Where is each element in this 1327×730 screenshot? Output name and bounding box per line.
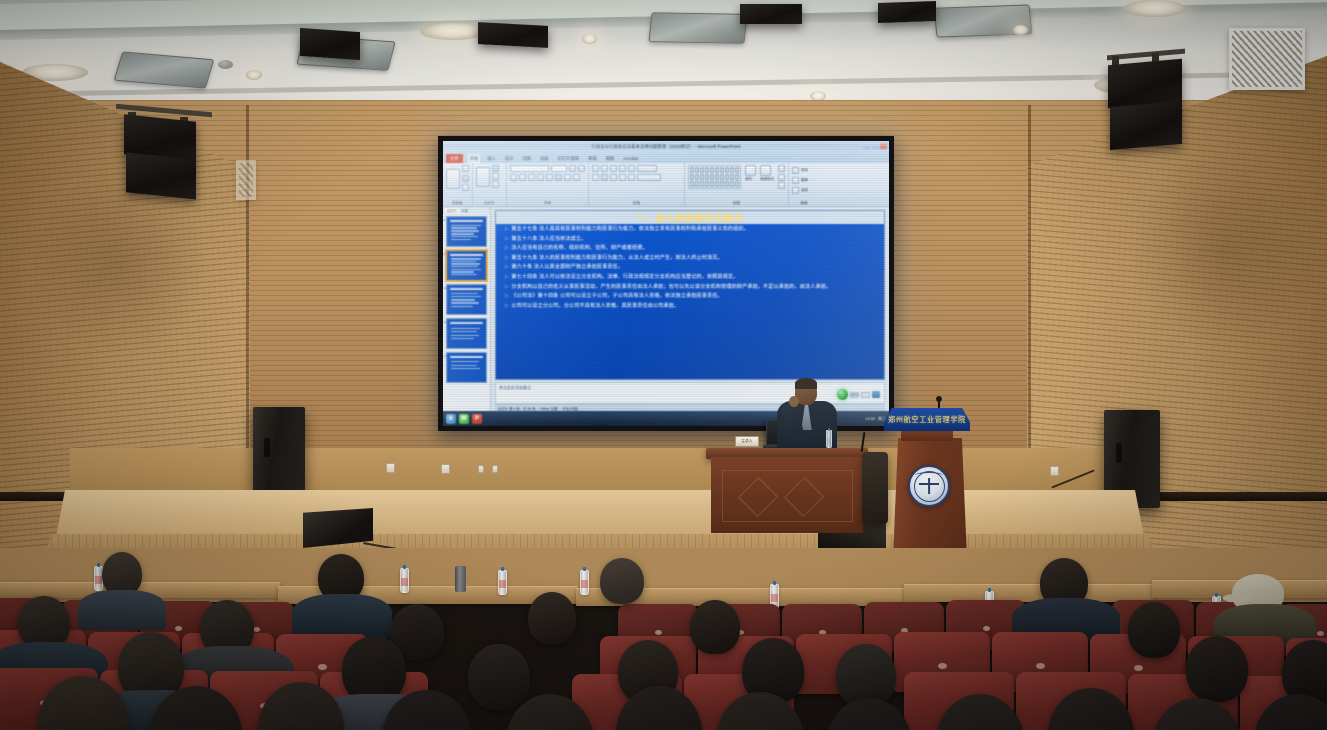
lecture-hall-photo: 行政法与行政诉讼法基本法律问题管理（2023修订） - Microsoft Po… <box>0 0 1327 730</box>
bullet-marker-icon: ▷ <box>505 226 509 233</box>
microphone-head-icon <box>936 396 942 402</box>
slide-thumbnail[interactable]: 11 <box>446 318 487 349</box>
decrease-font-icon[interactable] <box>578 165 585 172</box>
window-title-text: 行政法与行政诉讼法基本法律问题管理（2023修订） - Microsoft Po… <box>591 144 740 150</box>
theme-name: “Office 主题” <box>540 406 559 411</box>
presenter-indicator-icon <box>837 389 848 400</box>
audience-head <box>690 600 740 654</box>
bullet-text: 法人应当有自己的名称、组织机构、住所、财产或者经费。 <box>511 245 647 252</box>
hanging-speaker <box>1110 101 1182 150</box>
hanging-speaker <box>740 4 802 24</box>
thumbnail-number: 9 <box>444 252 446 256</box>
ribbon-group-slides: 幻灯片 <box>473 163 507 206</box>
shadow-icon[interactable] <box>537 174 544 181</box>
slide-editing-area[interactable]: 一、法人的民事行为能力 ▷第五十七条 法人是具有民事权利能力和民事行为能力，依法… <box>491 207 889 411</box>
hanging-speaker <box>126 152 196 199</box>
format-painter-icon[interactable] <box>462 184 469 191</box>
fit-slide-to-window-button[interactable] <box>872 391 880 398</box>
bullet-marker-icon: ▷ <box>505 284 509 291</box>
hanging-speaker <box>300 28 360 60</box>
copy-icon[interactable] <box>462 175 469 182</box>
ceiling-air-vent <box>648 12 747 44</box>
line-spacing-icon[interactable] <box>628 165 635 172</box>
shape-fill-icon[interactable] <box>778 165 785 172</box>
bullet-text: 《公司法》第十四条 公司可以设立子公司，子公司具有法人资格，依法独立承担民事责任… <box>511 293 722 300</box>
replace-icon[interactable] <box>792 177 799 184</box>
ribbon-group-font: 字体 <box>507 163 589 206</box>
tab-slideshow[interactable]: 幻灯片放映 <box>556 154 581 163</box>
slide-thumbnail[interactable]: 8 <box>446 216 487 247</box>
floor-standing-speaker <box>253 407 305 499</box>
water-bottle <box>580 570 589 595</box>
bullet-text: 第七十四条 法人可以依法设立分支机构。法律、行政法规规定分支机构应当登记的，依照… <box>511 274 738 281</box>
slide-bullet: ▷第七十四条 法人可以依法设立分支机构。法律、行政法规规定分支机构应当登记的，依… <box>505 274 880 281</box>
section-icon[interactable] <box>492 181 499 188</box>
internet-explorer-icon[interactable]: e <box>446 414 456 424</box>
ceiling-air-vent <box>114 51 215 88</box>
ribbon-group-clipboard: 剪贴板 <box>443 163 473 206</box>
slides-thumbnail-panel[interactable]: 幻灯片 大纲 8 9 <box>443 207 491 411</box>
group-label-font: 字体 <box>507 201 588 206</box>
slide-bullet: ▷第六十条 法人以其全部财产独立承担民事责任。 <box>505 264 880 271</box>
bullet-marker-icon: ▷ <box>505 255 509 262</box>
maximize-button[interactable] <box>872 143 879 149</box>
minimize-button[interactable] <box>863 143 870 149</box>
powerpoint-icon[interactable]: P <box>472 414 482 424</box>
paste-button[interactable] <box>446 169 460 189</box>
slide-bullet: ▷法人应当有自己的名称、组织机构、住所、财产或者经费。 <box>505 245 880 252</box>
wall-power-outlet <box>386 463 395 473</box>
window-title-bar: 行政法与行政诉讼法基本法律问题管理（2023修订） - Microsoft Po… <box>443 141 889 152</box>
panel-tab-bar[interactable]: 幻灯片 大纲 <box>443 207 490 214</box>
bullet-marker-icon: ▷ <box>505 293 509 300</box>
hanging-speaker <box>478 22 548 48</box>
zoom-percent-display[interactable]: 66% <box>850 392 859 398</box>
bullet-marker-icon: ▷ <box>505 264 509 271</box>
ceiling-downlight <box>246 70 262 80</box>
bullets-icon[interactable] <box>592 165 599 172</box>
slide-bullet: ▷《公司法》第十四条 公司可以设立子公司，子公司具有法人资格，依法独立承担民事责… <box>505 293 880 300</box>
select-icon[interactable] <box>792 187 799 194</box>
audience-desk-row <box>904 584 1154 602</box>
italic-icon[interactable] <box>519 174 526 181</box>
water-bottle <box>400 568 409 593</box>
shape-outline-icon[interactable] <box>778 174 785 181</box>
presenter-hair <box>795 378 817 389</box>
window-controls[interactable] <box>863 143 887 149</box>
audience-head <box>1186 636 1248 702</box>
bullet-text: 分支机构以自己的名义从事民事活动，产生的民事责任由法人承担；也可以先以该分支机构… <box>511 284 831 291</box>
ribbon-group-drawing: 排列 快速样式 绘图 <box>685 163 789 206</box>
current-slide[interactable]: 一、法人的民事行为能力 ▷第五十七条 法人是具有民事权利能力和民事行为能力，依法… <box>495 210 885 380</box>
tab-design[interactable]: 设计 <box>503 154 516 163</box>
bullet-marker-icon: ▷ <box>505 274 509 281</box>
strikethrough-icon[interactable] <box>546 174 553 181</box>
bullet-text: 第五十七条 法人是具有民事权利能力和民事行为能力，依法独立享有民事权利和承担民事… <box>511 226 749 233</box>
slide-title-text: 一、法人的民事行为能力 <box>496 212 884 224</box>
group-label-paragraph: 段落 <box>589 201 684 206</box>
wall-air-grille <box>1229 28 1305 90</box>
increase-indent-icon[interactable] <box>619 165 626 172</box>
smoke-detector-icon <box>218 60 233 69</box>
system-tray[interactable]: 14:56 周三 <box>865 411 886 426</box>
convert-to-smartart-button[interactable] <box>637 174 661 181</box>
audience-shoulders <box>292 594 392 638</box>
select-label: 选择 <box>801 188 808 193</box>
audience-head <box>468 644 530 710</box>
thumbnail-number: 8 <box>444 218 446 222</box>
tab-review[interactable]: 审阅 <box>586 154 599 163</box>
group-label-clipboard: 剪贴板 <box>443 201 472 206</box>
ribbon-group-paragraph: 段落 <box>589 163 685 206</box>
presenter-nameplate: 主讲人 <box>735 436 759 447</box>
podium-sign: 郑州航空工业管理学院 <box>884 408 970 431</box>
slide-thumbnail-selected[interactable]: 9 <box>446 250 487 281</box>
layout-icon[interactable] <box>492 165 499 172</box>
zoom-controls[interactable]: 66% <box>837 389 880 400</box>
align-left-icon[interactable] <box>592 174 599 181</box>
ribbon-group-editing: 查找 替换 选择 编辑 <box>789 163 819 206</box>
wall-light-glow <box>1130 150 1320 350</box>
slide-bullet: ▷第五十九条 法人的民事权利能力和民事行为能力，从法人成立时产生，到法人终止时消… <box>505 255 880 262</box>
bold-icon[interactable] <box>510 174 517 181</box>
wall-power-outlet <box>478 465 484 473</box>
align-center-icon[interactable] <box>601 174 608 181</box>
presenter-hand <box>789 396 799 407</box>
bullet-text: 第五十八条 法人应当依法成立。 <box>511 236 586 243</box>
decrease-indent-icon[interactable] <box>610 165 617 172</box>
presenter-chair <box>862 452 888 524</box>
university-emblem <box>908 465 950 507</box>
group-label-editing: 编辑 <box>789 201 819 206</box>
wall-power-outlet <box>1050 466 1059 476</box>
arrange-label: 排列 <box>745 177 756 182</box>
ribbon-tab-bar[interactable]: 文件 开始 插入 设计 切换 动画 幻灯片放映 审阅 视图 Acrobat <box>443 152 889 163</box>
led-projection-screen[interactable]: 行政法与行政诉讼法基本法律问题管理（2023修订） - Microsoft Po… <box>438 136 894 431</box>
increase-font-icon[interactable] <box>569 165 576 172</box>
notes-placeholder: 单击此处添加备注 <box>499 385 531 391</box>
tab-animations[interactable]: 动画 <box>538 154 551 163</box>
tab-insert[interactable]: 插入 <box>485 154 498 163</box>
tab-acrobat[interactable]: Acrobat <box>621 154 640 163</box>
ceiling-downlight <box>1124 0 1186 17</box>
ceiling-downlight <box>1013 25 1028 35</box>
panel-tab-slides[interactable]: 幻灯片 <box>445 208 459 213</box>
audience-shoulders <box>78 590 166 630</box>
cut-icon[interactable] <box>462 165 469 172</box>
slide-bullet: ▷第五十七条 法人是具有民事权利能力和民事行为能力，依法独立享有民事权利和承担民… <box>505 226 880 233</box>
quick-styles-label: 快速样式 <box>760 177 774 182</box>
align-right-icon[interactable] <box>610 174 617 181</box>
group-label-drawing: 绘图 <box>685 201 788 206</box>
group-label-slides: 幻灯片 <box>473 201 506 206</box>
bullet-text: 第六十条 法人以其全部财产独立承担民事责任。 <box>511 264 623 271</box>
hanging-speaker <box>878 1 936 23</box>
taskbar-clock[interactable]: 14:56 <box>865 416 875 421</box>
slide-bullet: ▷公司可以设立分公司。分公司不具有法人资格，其民事责任由公司承担。 <box>505 303 880 310</box>
quick-styles-button[interactable] <box>760 165 771 176</box>
shapes-gallery[interactable] <box>688 165 741 189</box>
wall-power-outlet <box>441 464 450 474</box>
font-color-icon[interactable] <box>573 174 580 181</box>
thumbnail-number: 10 <box>444 286 447 290</box>
language-indicator: 中文(中国) <box>562 406 578 411</box>
numbering-icon[interactable] <box>601 165 608 172</box>
audience-area <box>0 548 1327 730</box>
thumbnail-number: 12 <box>444 354 447 358</box>
find-icon[interactable] <box>792 167 799 174</box>
find-label: 查找 <box>801 168 808 173</box>
tab-transitions[interactable]: 切换 <box>520 154 533 163</box>
font-family-select[interactable] <box>510 165 549 172</box>
aircraft-icon <box>919 478 939 494</box>
thumbnail-number: 11 <box>444 320 447 324</box>
reset-icon[interactable] <box>492 173 499 180</box>
bullet-marker-icon: ▷ <box>505 245 509 252</box>
taskbar-date[interactable]: 周三 <box>878 416 886 422</box>
slide-bullet: ▷第五十八条 法人应当依法成立。 <box>505 236 880 243</box>
close-button[interactable] <box>880 143 887 149</box>
replace-label: 替换 <box>801 178 808 183</box>
audience-head <box>826 698 912 730</box>
bullet-text: 公司可以设立分公司。分公司不具有法人资格，其民事责任由公司承担。 <box>511 303 679 310</box>
tab-view[interactable]: 视图 <box>604 154 617 163</box>
text-direction-button[interactable] <box>637 165 657 172</box>
panel-tab-outline[interactable]: 大纲 <box>461 208 468 213</box>
desk-panel-ornament <box>784 477 824 517</box>
desk-front-panel <box>722 470 853 522</box>
slide-bullet-list: ▷第五十七条 法人是具有民事权利能力和民事行为能力，依法独立享有民事权利和承担民… <box>505 226 880 378</box>
columns-icon[interactable] <box>628 174 635 181</box>
wall-air-grille <box>236 160 256 200</box>
bullet-text: 第五十九条 法人的民事权利能力和民事行为能力，从法人成立时产生，到法人终止时消灭… <box>511 255 722 262</box>
audience-head <box>1128 602 1180 658</box>
bullet-marker-icon: ▷ <box>505 303 509 310</box>
slide-indicator: 幻灯片 第 9 张，共 36 张 <box>498 406 536 411</box>
ceiling-downlight <box>582 34 597 44</box>
wechat-icon[interactable]: W <box>459 414 469 424</box>
editor-body: 幻灯片 大纲 8 9 <box>443 207 889 411</box>
podium-sign-text: 郑州航空工业管理学院 <box>888 415 966 425</box>
wall-light-glow <box>30 170 210 360</box>
screen-surface: 行政法与行政诉讼法基本法律问题管理（2023修订） - Microsoft Po… <box>443 141 889 426</box>
font-size-select[interactable] <box>551 165 567 172</box>
zoom-slider[interactable] <box>861 392 870 398</box>
wall-power-outlet <box>492 465 498 473</box>
tab-home[interactable]: 开始 <box>468 154 481 163</box>
thumbnail-list[interactable]: 8 9 <box>443 214 490 411</box>
bullet-marker-icon: ▷ <box>505 236 509 243</box>
new-slide-button[interactable] <box>476 167 490 187</box>
nameplate-text: 主讲人 <box>741 439 752 444</box>
tab-file[interactable]: 文件 <box>446 154 463 163</box>
audience-head <box>600 558 644 604</box>
justify-icon[interactable] <box>619 174 626 181</box>
slide-thumbnail[interactable]: 12 <box>446 352 487 383</box>
water-bottle <box>826 430 832 448</box>
character-spacing-icon[interactable] <box>555 174 562 181</box>
ceiling-downlight <box>420 23 486 40</box>
change-case-icon[interactable] <box>564 174 571 181</box>
water-bottle <box>498 570 507 595</box>
arrange-button[interactable] <box>745 165 756 176</box>
shape-effects-icon[interactable] <box>778 182 785 189</box>
desk-panel-ornament <box>738 477 778 517</box>
vacuum-flask <box>455 566 466 592</box>
slide-thumbnail[interactable]: 10 <box>446 284 487 315</box>
underline-icon[interactable] <box>528 174 535 181</box>
powerpoint-window[interactable]: 行政法与行政诉讼法基本法律问题管理（2023修订） - Microsoft Po… <box>443 141 889 426</box>
ribbon[interactable]: 剪贴板 幻灯片 <box>443 163 889 207</box>
slide-bullet: ▷分支机构以自己的名义从事民事活动，产生的民事责任由法人承担；也可以先以该分支机… <box>505 284 880 291</box>
audience-head <box>528 592 576 644</box>
